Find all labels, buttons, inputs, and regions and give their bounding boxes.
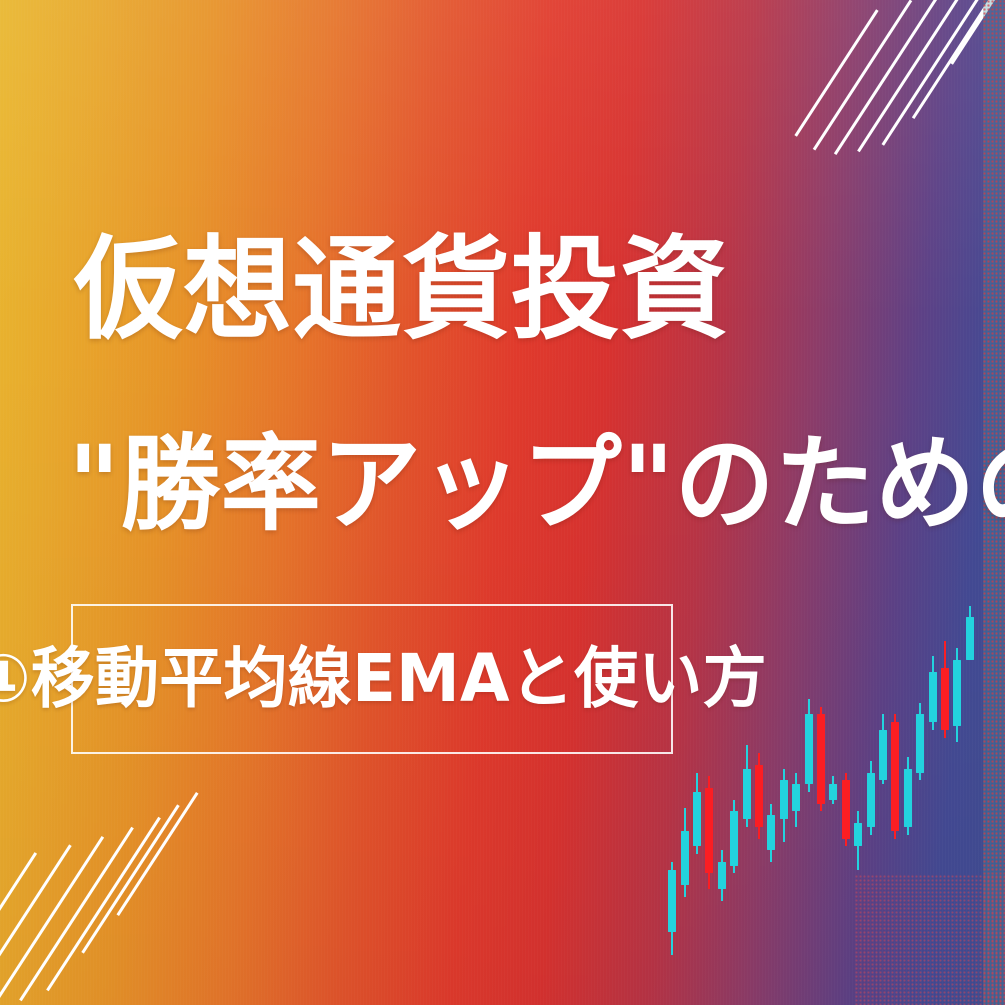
candlestick xyxy=(681,592,689,992)
candle-body xyxy=(681,831,689,885)
candlestick xyxy=(904,592,912,992)
candle-body xyxy=(805,714,813,784)
candle-body xyxy=(755,765,763,827)
candle-body xyxy=(693,792,701,846)
candle-body xyxy=(718,862,726,889)
candle-body xyxy=(730,811,738,865)
candle-body xyxy=(854,823,862,846)
candle-body xyxy=(929,672,937,722)
candlestick xyxy=(916,592,924,992)
candlestick xyxy=(755,592,763,992)
candlestick xyxy=(929,592,937,992)
candle-body xyxy=(891,722,899,831)
candle-body xyxy=(867,773,875,827)
candlestick xyxy=(693,592,701,992)
candle-body xyxy=(829,784,837,800)
candlestick xyxy=(743,592,751,992)
candle-body xyxy=(668,870,676,932)
candlestick xyxy=(805,592,813,992)
candlestick xyxy=(842,592,850,992)
candle-body xyxy=(817,714,825,803)
candlestick xyxy=(953,592,961,992)
candlestick xyxy=(879,592,887,992)
candlestick xyxy=(668,592,676,992)
candlestick xyxy=(966,592,974,992)
candle-body xyxy=(792,784,800,811)
candle-body xyxy=(743,769,751,819)
candle-body xyxy=(842,780,850,838)
candlestick xyxy=(867,592,875,992)
candle-body xyxy=(953,660,961,726)
candle-body xyxy=(780,780,788,819)
candle-body xyxy=(904,769,912,827)
candlestick xyxy=(829,592,837,992)
subtitle-box: ①移動平均線EMAと使い方 xyxy=(71,604,673,754)
candlestick-chart xyxy=(660,592,990,992)
candlestick xyxy=(891,592,899,992)
candle-body xyxy=(966,617,974,660)
poster-canvas: 仮想通貨投資 "勝率アップ"のための基本知識 ①移動平均線EMAと使い方 xyxy=(0,0,1005,1005)
candlestick xyxy=(780,592,788,992)
headline-line-2: "勝率アップ"のための基本知識 xyxy=(68,426,1005,542)
candlestick xyxy=(792,592,800,992)
candle-body xyxy=(879,730,887,780)
candlestick xyxy=(854,592,862,992)
candle-body xyxy=(705,788,713,873)
candle-body xyxy=(767,815,775,850)
candle-body xyxy=(941,668,949,730)
candlestick xyxy=(767,592,775,992)
candlestick xyxy=(705,592,713,992)
subtitle-label: ①移動平均線EMAと使い方 xyxy=(0,646,767,712)
candlestick xyxy=(941,592,949,992)
candlestick xyxy=(730,592,738,992)
candle-body xyxy=(916,714,924,772)
candlestick xyxy=(817,592,825,992)
candlestick xyxy=(718,592,726,992)
headline-line-1: 仮想通貨投資 xyxy=(74,228,729,353)
